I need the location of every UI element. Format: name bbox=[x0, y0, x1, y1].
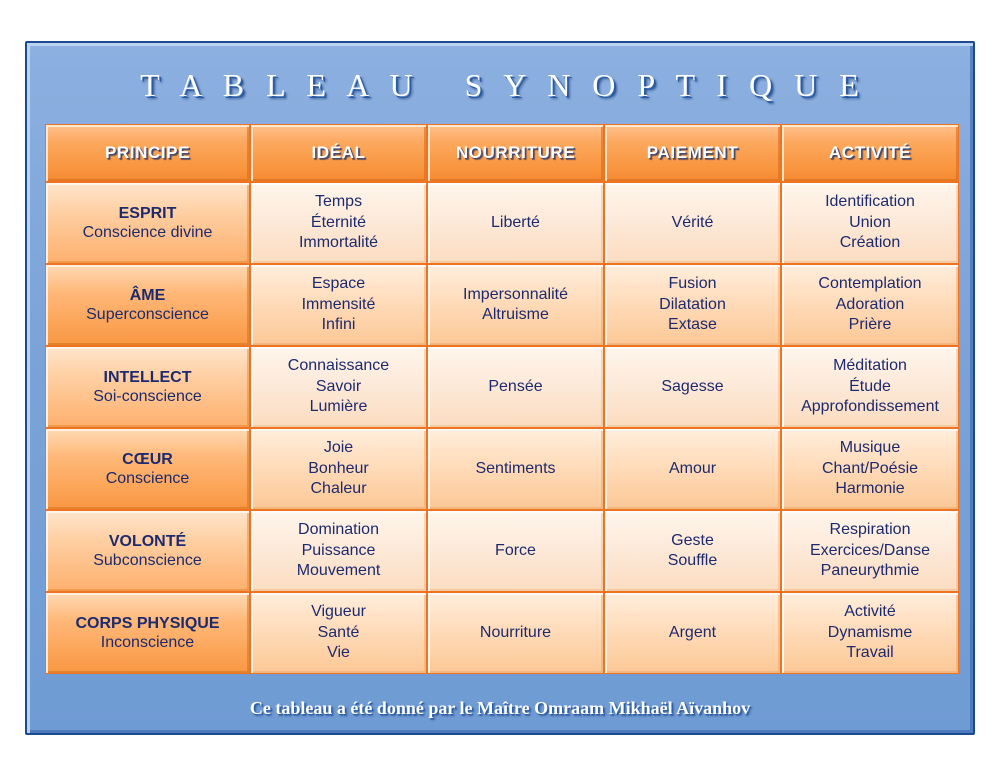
synoptic-table: PRINCIPEIDÉALNOURRITUREPAIEMENTACTIVITÉ … bbox=[45, 124, 959, 674]
principle-subtitle: Subconscience bbox=[46, 551, 249, 570]
cell-line: Liberté bbox=[428, 213, 603, 233]
column-header-label: ACTIVITÉ bbox=[782, 143, 958, 163]
cell-activite: IdentificationUnionCréation bbox=[781, 182, 959, 264]
cell-line: Lumière bbox=[251, 397, 426, 417]
cell-ideal: EspaceImmensitéInfini bbox=[250, 264, 427, 346]
cell-line: Espace bbox=[251, 274, 426, 294]
cell-ideal: VigueurSantéVie bbox=[250, 592, 427, 674]
column-header-activite: ACTIVITÉ bbox=[781, 124, 959, 182]
column-header-principe: PRINCIPE bbox=[45, 124, 250, 182]
cell-line: Dynamisme bbox=[782, 623, 958, 643]
cell-paiement: GesteSouffle bbox=[604, 510, 781, 592]
cell-nourriture: Force bbox=[427, 510, 604, 592]
cell-line: Création bbox=[782, 233, 958, 253]
table-body: ESPRITConscience divineTempsÉternitéImmo… bbox=[45, 182, 959, 674]
cell-line: Vigueur bbox=[251, 602, 426, 622]
footer-caption: Ce tableau a été donné par le Maître Omr… bbox=[27, 698, 973, 719]
cell-line: Impersonnalité bbox=[428, 285, 603, 305]
principle-name: ÂME bbox=[46, 286, 249, 305]
cell-paiement: Vérité bbox=[604, 182, 781, 264]
cell-activite: RespirationExercices/DansePaneurythmie bbox=[781, 510, 959, 592]
cell-line: Activité bbox=[782, 602, 958, 622]
column-header-label: IDÉAL bbox=[251, 143, 426, 163]
principle-cell: ÂMESuperconscience bbox=[45, 264, 250, 346]
cell-ideal: ConnaissanceSavoirLumière bbox=[250, 346, 427, 428]
cell-line: Chaleur bbox=[251, 479, 426, 499]
cell-paiement: FusionDilatationExtase bbox=[604, 264, 781, 346]
cell-line: Argent bbox=[605, 623, 780, 643]
principle-subtitle: Conscience divine bbox=[46, 223, 249, 242]
column-header-label: NOURRITURE bbox=[428, 143, 603, 163]
cell-line: Joie bbox=[251, 438, 426, 458]
cell-line: Vie bbox=[251, 643, 426, 663]
cell-line: Force bbox=[428, 541, 603, 561]
cell-line: Contemplation bbox=[782, 274, 958, 294]
cell-line: Mouvement bbox=[251, 561, 426, 581]
cell-nourriture: Sentiments bbox=[427, 428, 604, 510]
principle-cell: CORPS PHYSIQUEInconscience bbox=[45, 592, 250, 674]
principle-cell: ESPRITConscience divine bbox=[45, 182, 250, 264]
principle-subtitle: Superconscience bbox=[46, 305, 249, 324]
cell-line: Union bbox=[782, 213, 958, 233]
cell-line: Méditation bbox=[782, 356, 958, 376]
cell-line: Fusion bbox=[605, 274, 780, 294]
cell-paiement: Amour bbox=[604, 428, 781, 510]
cell-line: Adoration bbox=[782, 295, 958, 315]
column-header-label: PRINCIPE bbox=[46, 143, 249, 163]
principle-name: ESPRIT bbox=[46, 204, 249, 223]
column-header-nourriture: NOURRITURE bbox=[427, 124, 604, 182]
cell-paiement: Argent bbox=[604, 592, 781, 674]
cell-line: Santé bbox=[251, 623, 426, 643]
table-row: INTELLECTSoi-conscienceConnaissanceSavoi… bbox=[45, 346, 959, 428]
cell-line: Chant/Poésie bbox=[782, 459, 958, 479]
table-row: CŒURConscienceJoieBonheurChaleurSentimen… bbox=[45, 428, 959, 510]
principle-name: VOLONTÉ bbox=[46, 532, 249, 551]
cell-line: Travail bbox=[782, 643, 958, 663]
cell-line: Dilatation bbox=[605, 295, 780, 315]
principle-subtitle: Soi-conscience bbox=[46, 387, 249, 406]
column-header-ideal: IDÉAL bbox=[250, 124, 427, 182]
poster-panel: T A B L E A U S Y N O P T I Q U E PRINCI… bbox=[25, 41, 975, 735]
principle-subtitle: Conscience bbox=[46, 469, 249, 488]
header-row: PRINCIPEIDÉALNOURRITUREPAIEMENTACTIVITÉ bbox=[45, 124, 959, 182]
cell-ideal: DominationPuissanceMouvement bbox=[250, 510, 427, 592]
page-title: T A B L E A U S Y N O P T I Q U E bbox=[27, 43, 973, 101]
cell-line: Puissance bbox=[251, 541, 426, 561]
principle-name: INTELLECT bbox=[46, 368, 249, 387]
cell-line: Bonheur bbox=[251, 459, 426, 479]
cell-line: Infini bbox=[251, 315, 426, 335]
principle-cell: VOLONTÉSubconscience bbox=[45, 510, 250, 592]
cell-line: Approfondissement bbox=[782, 397, 958, 417]
cell-activite: MéditationÉtudeApprofondissement bbox=[781, 346, 959, 428]
cell-activite: ContemplationAdorationPrière bbox=[781, 264, 959, 346]
cell-line: Prière bbox=[782, 315, 958, 335]
synoptic-table-wrap: PRINCIPEIDÉALNOURRITUREPAIEMENTACTIVITÉ … bbox=[45, 124, 959, 665]
cell-line: Domination bbox=[251, 520, 426, 540]
cell-line: Pensée bbox=[428, 377, 603, 397]
cell-line: Amour bbox=[605, 459, 780, 479]
cell-ideal: TempsÉternitéImmortalité bbox=[250, 182, 427, 264]
cell-nourriture: Pensée bbox=[427, 346, 604, 428]
cell-line: Étude bbox=[782, 377, 958, 397]
cell-nourriture: Liberté bbox=[427, 182, 604, 264]
cell-line: Musique bbox=[782, 438, 958, 458]
cell-activite: MusiqueChant/PoésieHarmonie bbox=[781, 428, 959, 510]
table-row: CORPS PHYSIQUEInconscienceVigueurSantéVi… bbox=[45, 592, 959, 674]
cell-line: Savoir bbox=[251, 377, 426, 397]
cell-nourriture: ImpersonnalitéAltruisme bbox=[427, 264, 604, 346]
cell-line: Identification bbox=[782, 192, 958, 212]
cell-line: Respiration bbox=[782, 520, 958, 540]
cell-ideal: JoieBonheurChaleur bbox=[250, 428, 427, 510]
cell-line: Harmonie bbox=[782, 479, 958, 499]
principle-cell: CŒURConscience bbox=[45, 428, 250, 510]
principle-subtitle: Inconscience bbox=[46, 633, 249, 652]
column-header-paiement: PAIEMENT bbox=[604, 124, 781, 182]
cell-nourriture: Nourriture bbox=[427, 592, 604, 674]
table-row: ÂMESuperconscienceEspaceImmensitéInfiniI… bbox=[45, 264, 959, 346]
cell-line: Exercices/Danse bbox=[782, 541, 958, 561]
cell-line: Paneurythmie bbox=[782, 561, 958, 581]
cell-line: Immortalité bbox=[251, 233, 426, 253]
cell-line: Sagesse bbox=[605, 377, 780, 397]
table-row: ESPRITConscience divineTempsÉternitéImmo… bbox=[45, 182, 959, 264]
principle-cell: INTELLECTSoi-conscience bbox=[45, 346, 250, 428]
cell-paiement: Sagesse bbox=[604, 346, 781, 428]
cell-line: Immensité bbox=[251, 295, 426, 315]
table-head: PRINCIPEIDÉALNOURRITUREPAIEMENTACTIVITÉ bbox=[45, 124, 959, 182]
cell-line: Temps bbox=[251, 192, 426, 212]
cell-line: Éternité bbox=[251, 213, 426, 233]
cell-line: Souffle bbox=[605, 551, 780, 571]
cell-line: Vérité bbox=[605, 213, 780, 233]
cell-line: Nourriture bbox=[428, 623, 603, 643]
cell-activite: ActivitéDynamismeTravail bbox=[781, 592, 959, 674]
cell-line: Connaissance bbox=[251, 356, 426, 376]
cell-line: Extase bbox=[605, 315, 780, 335]
principle-name: CŒUR bbox=[46, 450, 249, 469]
table-row: VOLONTÉSubconscienceDominationPuissanceM… bbox=[45, 510, 959, 592]
cell-line: Altruisme bbox=[428, 305, 603, 325]
cell-line: Geste bbox=[605, 531, 780, 551]
cell-line: Sentiments bbox=[428, 459, 603, 479]
column-header-label: PAIEMENT bbox=[605, 143, 780, 163]
principle-name: CORPS PHYSIQUE bbox=[46, 614, 249, 633]
